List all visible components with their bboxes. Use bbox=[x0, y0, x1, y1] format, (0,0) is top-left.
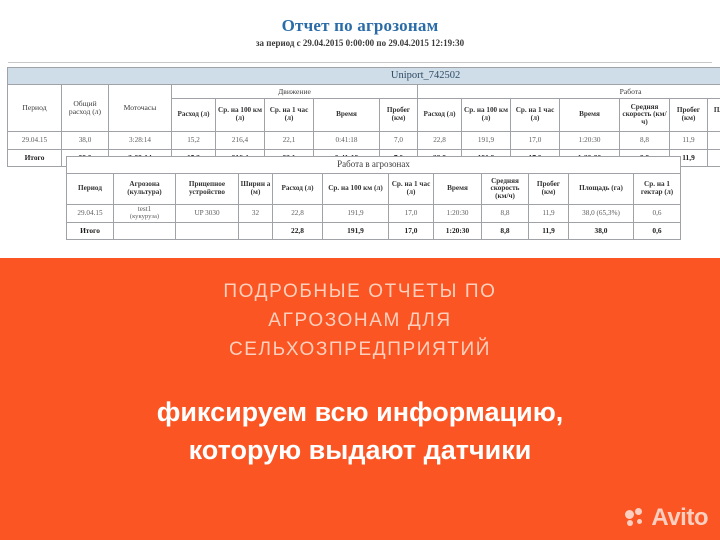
az-col-time: Время bbox=[434, 174, 482, 205]
avito-wordmark: Avito bbox=[651, 506, 708, 530]
az-col-zone: Агрозона (культура) bbox=[114, 174, 176, 205]
az-col-period: Период bbox=[67, 174, 114, 205]
az-zone-crop: (кукуруза) bbox=[115, 214, 174, 221]
device-title-bar: Uniport_742502 bbox=[8, 68, 720, 85]
col-movement-per-hour: Ср. на 1 час (л) bbox=[265, 99, 314, 132]
az-cell-period: 29.04.15 bbox=[67, 205, 114, 223]
col-work-avg-speed: Средняя скорость (км/ч) bbox=[620, 99, 670, 132]
az-cell-distance: 11,9 bbox=[529, 205, 569, 223]
cell-wk-avg-speed: 8,8 bbox=[620, 132, 670, 150]
az-total-per-hectare: 0,6 bbox=[634, 223, 681, 240]
az-total-width bbox=[239, 223, 273, 240]
az-col-avg-speed: Средняя скорость (км/ч) bbox=[482, 174, 529, 205]
promo-headline-line-2: АГРОЗОНАМ ДЛЯ bbox=[0, 307, 720, 336]
group-header-work: Работа bbox=[418, 85, 720, 99]
total-wk-area: 38,0 bbox=[708, 150, 720, 167]
az-total-avg-speed: 8,8 bbox=[482, 223, 529, 240]
table-row: 29.04.15 test1 (кукуруза) UP 3030 32 22,… bbox=[67, 205, 681, 223]
az-cell-per-100km: 191,9 bbox=[323, 205, 389, 223]
promo-headline-line-1: ПОДРОБНЫЕ ОТЧЕТЫ ПО bbox=[0, 278, 720, 307]
promo-headline-line-3: СЕЛЬХОЗПРЕДПРИЯТИЙ bbox=[0, 336, 720, 365]
az-cell-avg-speed: 8,8 bbox=[482, 205, 529, 223]
col-work-area: Площадь (га) bbox=[708, 99, 720, 132]
agrozones-table: Работа в агрозонах Период Агрозона (куль… bbox=[66, 156, 681, 240]
movement-work-table: Uniport_742502 Период Общий расход (л) М… bbox=[7, 67, 720, 167]
az-total-time: 1:20:30 bbox=[434, 223, 482, 240]
cell-wk-fuel: 22,8 bbox=[418, 132, 462, 150]
avito-logo-icon bbox=[625, 508, 647, 528]
page-title: Отчет по агрозонам bbox=[0, 0, 720, 36]
promo-subline-line-1: фиксируем всю информацию, bbox=[0, 393, 720, 431]
col-movement-fuel: Расход (л) bbox=[172, 99, 216, 132]
promo-subline-line-2: которую выдают датчики bbox=[0, 431, 720, 469]
az-total-fuel: 22,8 bbox=[273, 223, 323, 240]
az-col-per-hectare: Ср. на 1 гектар (л) bbox=[634, 174, 681, 205]
cell-mv-time: 0:41:18 bbox=[314, 132, 380, 150]
cell-mv-distance: 7,0 bbox=[380, 132, 418, 150]
az-col-distance: Пробег (км) bbox=[529, 174, 569, 205]
cell-period: 29.04.15 bbox=[8, 132, 62, 150]
az-cell-implement: UP 3030 bbox=[176, 205, 239, 223]
col-total-fuel: Общий расход (л) bbox=[62, 85, 109, 132]
az-total-area: 38,0 bbox=[569, 223, 634, 240]
az-total-label: Итого bbox=[67, 223, 114, 240]
table-total-row: Итого 22,8 191,9 17,0 1:20:30 8,8 11,9 3… bbox=[67, 223, 681, 240]
cell-mv-per-hour: 22,1 bbox=[265, 132, 314, 150]
cell-wk-per-hour: 17,0 bbox=[511, 132, 560, 150]
col-movement-distance: Пробег (км) bbox=[380, 99, 418, 132]
col-period: Период bbox=[8, 85, 62, 132]
col-movement-per-100km: Ср. на 100 км (л) bbox=[216, 99, 265, 132]
report-period-subtitle: за период с 29.04.2015 0:00:00 по 29.04.… bbox=[0, 36, 720, 49]
group-header-movement: Движение bbox=[172, 85, 418, 99]
col-engine-hours: Моточасы bbox=[109, 85, 172, 132]
report-document: Отчет по агрозонам за период с 29.04.201… bbox=[0, 0, 720, 258]
az-cell-area: 38,0 (65,3%) bbox=[569, 205, 634, 223]
az-total-distance: 11,9 bbox=[529, 223, 569, 240]
avito-watermark: Avito bbox=[625, 506, 708, 530]
col-work-per-100km: Ср. на 100 км (л) bbox=[462, 99, 511, 132]
cell-engine-hours: 3:28:14 bbox=[109, 132, 172, 150]
cell-mv-fuel: 15,2 bbox=[172, 132, 216, 150]
az-col-implement: Прицепное устройство bbox=[176, 174, 239, 205]
col-work-fuel: Расход (л) bbox=[418, 99, 462, 132]
az-total-per-hour: 17,0 bbox=[389, 223, 434, 240]
table-row: 29.04.15 38,0 3:28:14 15,2 216,4 22,1 0:… bbox=[8, 132, 720, 150]
agrozones-title-bar: Работа в агрозонах bbox=[67, 157, 681, 174]
az-col-width: Ширин а (м) bbox=[239, 174, 273, 205]
az-col-fuel: Расход (л) bbox=[273, 174, 323, 205]
az-cell-per-hour: 17,0 bbox=[389, 205, 434, 223]
az-col-area: Площадь (га) bbox=[569, 174, 634, 205]
az-cell-time: 1:20:30 bbox=[434, 205, 482, 223]
col-work-distance: Пробег (км) bbox=[670, 99, 708, 132]
cell-wk-area: 38,0 bbox=[708, 132, 720, 150]
promo-subline: фиксируем всю информацию, которую выдают… bbox=[0, 393, 720, 470]
cell-wk-time: 1:20:30 bbox=[560, 132, 620, 150]
cell-mv-per-100km: 216,4 bbox=[216, 132, 265, 150]
cell-wk-distance: 11,9 bbox=[670, 132, 708, 150]
cell-total-fuel: 38,0 bbox=[62, 132, 109, 150]
col-movement-time: Время bbox=[314, 99, 380, 132]
az-total-per-100km: 191,9 bbox=[323, 223, 389, 240]
az-col-per-hour: Ср. на 1 час (л) bbox=[389, 174, 434, 205]
az-total-zone bbox=[114, 223, 176, 240]
az-col-per-100km: Ср. на 100 км (л) bbox=[323, 174, 389, 205]
total-label: Итого bbox=[8, 150, 62, 167]
promo-headline: ПОДРОБНЫЕ ОТЧЕТЫ ПО АГРОЗОНАМ ДЛЯ СЕЛЬХО… bbox=[0, 278, 720, 365]
header-divider bbox=[8, 62, 712, 63]
az-total-implement bbox=[176, 223, 239, 240]
az-cell-per-hectare: 0,6 bbox=[634, 205, 681, 223]
col-work-time: Время bbox=[560, 99, 620, 132]
cell-wk-per-100km: 191,9 bbox=[462, 132, 511, 150]
az-cell-zone: test1 (кукуруза) bbox=[114, 205, 176, 223]
az-cell-width: 32 bbox=[239, 205, 273, 223]
promo-banner: ПОДРОБНЫЕ ОТЧЕТЫ ПО АГРОЗОНАМ ДЛЯ СЕЛЬХО… bbox=[0, 258, 720, 540]
az-cell-fuel: 22,8 bbox=[273, 205, 323, 223]
col-work-per-hour: Ср. на 1 час (л) bbox=[511, 99, 560, 132]
